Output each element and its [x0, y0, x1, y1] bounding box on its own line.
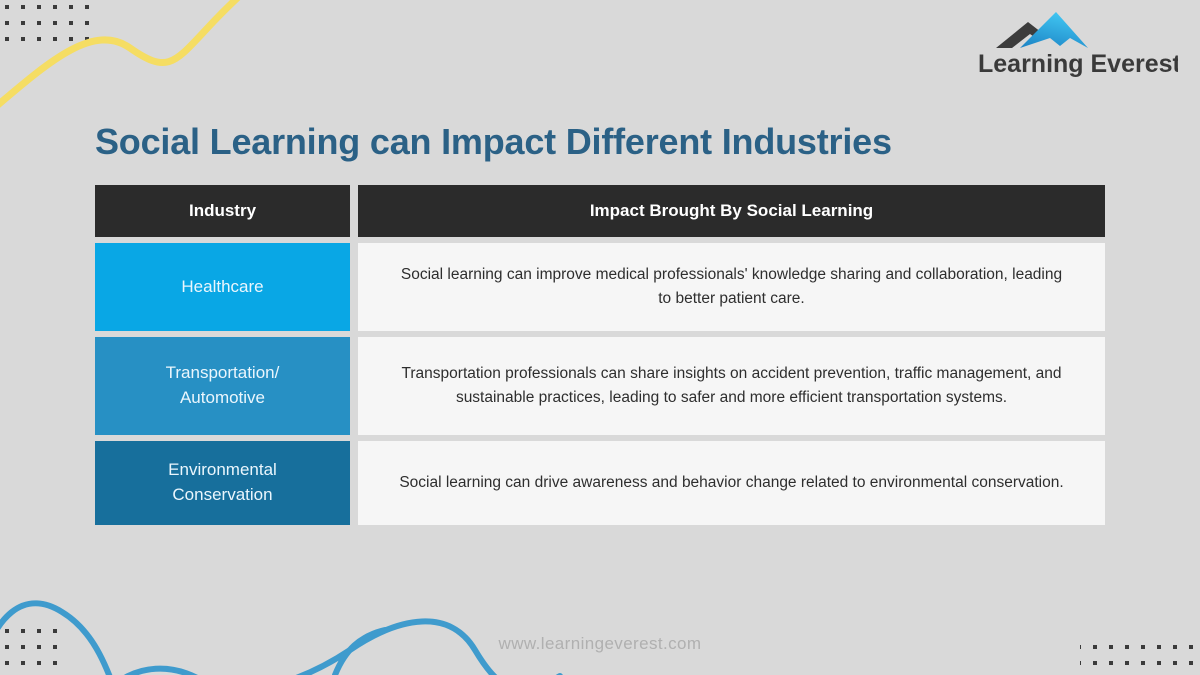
industry-label-line2: Automotive [180, 388, 265, 407]
column-header-industry: Industry [95, 185, 350, 237]
table-row: Healthcare Social learning can improve m… [95, 243, 1105, 331]
impact-cell-transportation: Transportation professionals can share i… [358, 337, 1105, 435]
industry-cell-transportation: Transportation/ Automotive [95, 337, 350, 435]
industry-label-multiline: Environmental Conservation [168, 458, 277, 507]
dot-grid-top-left [0, 0, 98, 50]
yellow-wave [0, 0, 268, 120]
footer-url: www.learningeverest.com [0, 634, 1200, 654]
industry-label-line1: Transportation/ [166, 363, 280, 382]
industry-label-line2: Conservation [172, 485, 272, 504]
impact-cell-healthcare: Social learning can improve medical prof… [358, 243, 1105, 331]
impact-cell-environmental: Social learning can drive awareness and … [358, 441, 1105, 525]
industry-cell-environmental: Environmental Conservation [95, 441, 350, 525]
blue-wave-secondary [100, 669, 360, 675]
table-header-row: Industry Impact Brought By Social Learni… [95, 185, 1105, 237]
page-title: Social Learning can Impact Different Ind… [95, 122, 1105, 162]
industry-label-multiline: Transportation/ Automotive [166, 361, 280, 410]
table-row: Transportation/ Automotive Transportatio… [95, 337, 1105, 435]
industries-table: Industry Impact Brought By Social Learni… [95, 185, 1105, 531]
industry-label-line1: Environmental [168, 460, 277, 479]
logo: Learning Everest [978, 8, 1178, 86]
table-row: Environmental Conservation Social learni… [95, 441, 1105, 525]
industry-cell-healthcare: Healthcare [95, 243, 350, 331]
logo-wordmark: Learning Everest [978, 50, 1178, 78]
column-header-impact: Impact Brought By Social Learning [358, 185, 1105, 237]
